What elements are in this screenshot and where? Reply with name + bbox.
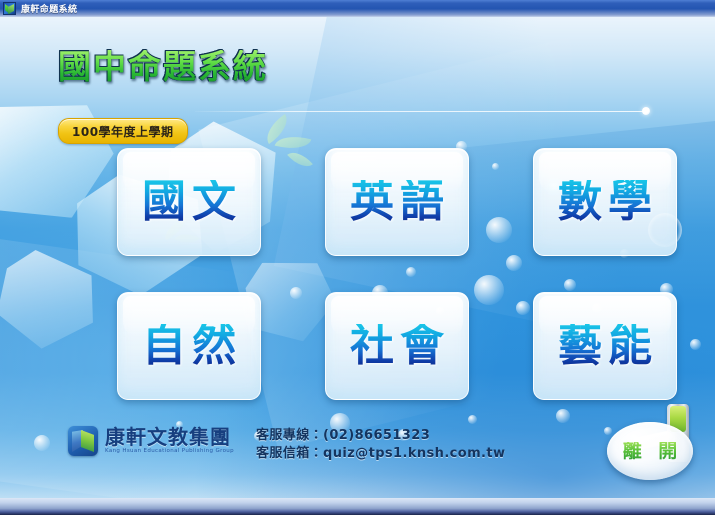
- application-window: 康軒命題系統: [0, 0, 715, 515]
- subject-science-button[interactable]: 自然: [117, 292, 261, 400]
- window-title: 康軒命題系統: [21, 2, 77, 15]
- kang-hsuan-logo-icon: [68, 426, 98, 456]
- subject-social-label: 社會: [344, 324, 450, 368]
- brand-text: 康軒文教集團 Kang Hsuan Educational Publishing…: [105, 427, 234, 455]
- app-logo-icon: [3, 2, 16, 15]
- subject-arts-label: 藝能: [552, 324, 658, 368]
- subject-math-label: 數學: [552, 180, 658, 224]
- bokeh-bubble: [690, 339, 701, 350]
- brand-name-en: Kang Hsuan Educational Publishing Group: [105, 447, 234, 455]
- subject-english-label: 英語: [344, 180, 450, 224]
- subject-english-button[interactable]: 英語: [325, 148, 469, 256]
- subject-arts-button[interactable]: 藝能: [533, 292, 677, 400]
- subject-chinese-label: 國文: [136, 180, 242, 224]
- header-divider-line: [195, 111, 645, 112]
- leaf-decoration: [260, 114, 294, 144]
- term-badge-label: 100學年度上學期: [72, 125, 174, 139]
- subject-grid: 國文 英語 數學 自然 社會 藝能: [117, 148, 678, 400]
- contact-phone: 客服專線：(02)86651323: [256, 427, 505, 445]
- exit-button-label: 離 開: [618, 442, 683, 461]
- page-footer: 康軒文教集團 Kang Hsuan Educational Publishing…: [0, 418, 715, 498]
- main-canvas: 國中命題系統 100學年度上學期 國文 英語 數學 自然 社會 藝能: [0, 17, 715, 498]
- exit-button[interactable]: 離 開: [607, 422, 693, 480]
- page-heading: 國中命題系統: [58, 50, 268, 83]
- contact-email: 客服信箱：quiz@tps1.knsh.com.tw: [256, 445, 505, 463]
- window-titlebar: 康軒命題系統: [0, 0, 715, 17]
- header-divider-dot: [642, 107, 650, 115]
- exit-button-group: 離 開: [605, 404, 711, 494]
- window-statusbar: [0, 498, 715, 515]
- ice-crystal-decoration: [0, 92, 122, 230]
- ice-crystal-decoration: [0, 245, 104, 356]
- term-badge: 100學年度上學期: [58, 118, 188, 144]
- subject-science-label: 自然: [136, 324, 242, 368]
- subject-chinese-button[interactable]: 國文: [117, 148, 261, 256]
- brand-block: 康軒文教集團 Kang Hsuan Educational Publishing…: [68, 426, 234, 456]
- subject-math-button[interactable]: 數學: [533, 148, 677, 256]
- page-title: 國中命題系統: [58, 50, 268, 83]
- subject-social-button[interactable]: 社會: [325, 292, 469, 400]
- brand-name-zh: 康軒文教集團: [105, 427, 234, 447]
- contact-info: 客服專線：(02)86651323 客服信箱：quiz@tps1.knsh.co…: [256, 427, 505, 463]
